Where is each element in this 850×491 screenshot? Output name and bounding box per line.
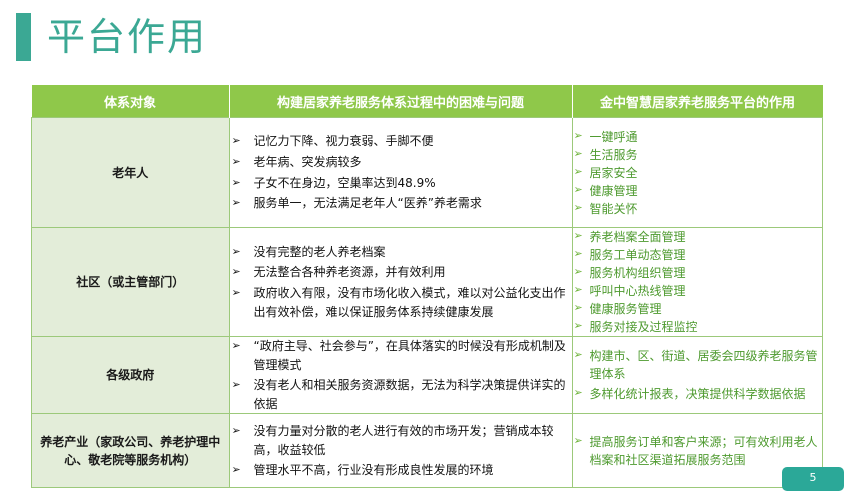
problem-list: 记忆力下降、视力衰弱、手脚不便 老年病、突发病较多 子女不在身边，空巢率达到48… <box>230 132 572 212</box>
list-item: “政府主导、社会参与”，在具体落实的时候没有形成机制及管理模式 <box>230 337 572 374</box>
list-item: 居家安全 <box>573 164 823 182</box>
list-item: 多样化统计报表，决策提供科学数据依据 <box>573 385 823 403</box>
table-row: 社区（或主管部门） 没有完整的老人养老档案 无法整合各种养老资源，并有效利用 政… <box>32 228 823 337</box>
problem-list: “政府主导、社会参与”，在具体落实的时候没有形成机制及管理模式 没有老人和相关服… <box>230 337 572 413</box>
row-problems-cell: “政府主导、社会参与”，在具体落实的时候没有形成机制及管理模式 没有老人和相关服… <box>229 337 572 414</box>
list-item: 子女不在身边，空巢率达到48.9% <box>230 174 572 193</box>
table-header: 体系对象 构建居家养老服务体系过程中的困难与问题 金中智慧居家养老服务平台的作用 <box>32 85 823 118</box>
table-row: 老年人 记忆力下降、视力衰弱、手脚不便 老年病、突发病较多 子女不在身边，空巢率… <box>32 118 823 228</box>
list-item: 服务工单动态管理 <box>573 246 823 264</box>
list-item: 一键呼通 <box>573 128 823 146</box>
list-item: 没有完整的老人养老档案 <box>230 243 572 262</box>
list-item: 服务单一，无法满足老年人“医养”养老需求 <box>230 194 572 213</box>
list-item: 构建市、区、街道、居委会四级养老服务管理体系 <box>573 347 823 383</box>
list-item: 健康服务管理 <box>573 300 823 318</box>
platform-role-table: 体系对象 构建居家养老服务体系过程中的困难与问题 金中智慧居家养老服务平台的作用… <box>31 85 823 488</box>
page-title: 平台作用 <box>47 18 207 56</box>
table-header-row: 体系对象 构建居家养老服务体系过程中的困难与问题 金中智慧居家养老服务平台的作用 <box>32 85 823 118</box>
list-item: 服务对接及过程监控 <box>573 318 823 336</box>
page-number-badge: 5 <box>782 467 844 491</box>
table-row: 各级政府 “政府主导、社会参与”，在具体落实的时候没有形成机制及管理模式 没有老… <box>32 337 823 414</box>
row-object-label: 老年人 <box>32 118 230 228</box>
list-item: 生活服务 <box>573 146 823 164</box>
row-problems-cell: 没有完整的老人养老档案 无法整合各种养老资源，并有效利用 政府收入有限，没有市场… <box>229 228 572 337</box>
list-item: 管理水平不高，行业没有形成良性发展的环境 <box>230 461 572 480</box>
column-header-object: 体系对象 <box>32 85 230 118</box>
role-list: 构建市、区、街道、居委会四级养老服务管理体系 多样化统计报表，决策提供科学数据依… <box>573 347 823 403</box>
row-problems-cell: 记忆力下降、视力衰弱、手脚不便 老年病、突发病较多 子女不在身边，空巢率达到48… <box>229 118 572 228</box>
list-item: 没有力量对分散的老人进行有效的市场开发；营销成本较高，收益较低 <box>230 422 572 459</box>
row-problems-cell: 没有力量对分散的老人进行有效的市场开发；营销成本较高，收益较低 管理水平不高，行… <box>229 414 572 488</box>
role-list: 养老档案全面管理 服务工单动态管理 服务机构组织管理 呼叫中心热线管理 健康服务… <box>573 228 823 336</box>
list-item: 养老档案全面管理 <box>573 228 823 246</box>
column-header-problems: 构建居家养老服务体系过程中的困难与问题 <box>229 85 572 118</box>
table-row: 养老产业（家政公司、养老护理中心、敬老院等服务机构） 没有力量对分散的老人进行有… <box>32 414 823 488</box>
row-object-label: 养老产业（家政公司、养老护理中心、敬老院等服务机构） <box>32 414 230 488</box>
role-list: 一键呼通 生活服务 居家安全 健康管理 智能关怀 <box>573 128 823 218</box>
title-accent-bar <box>16 13 31 61</box>
row-roles-cell: 一键呼通 生活服务 居家安全 健康管理 智能关怀 <box>572 118 823 228</box>
list-item: 呼叫中心热线管理 <box>573 282 823 300</box>
problem-list: 没有力量对分散的老人进行有效的市场开发；营销成本较高，收益较低 管理水平不高，行… <box>230 422 572 480</box>
row-object-label: 社区（或主管部门） <box>32 228 230 337</box>
role-list: 提高服务订单和客户来源；可有效利用老人档案和社区渠道拓展服务范围 <box>573 433 823 469</box>
row-roles-cell: 构建市、区、街道、居委会四级养老服务管理体系 多样化统计报表，决策提供科学数据依… <box>572 337 823 414</box>
list-item: 政府收入有限，没有市场化收入模式，难以对公益化支出作出有效补偿，难以保证服务体系… <box>230 284 572 321</box>
list-item: 记忆力下降、视力衰弱、手脚不便 <box>230 132 572 151</box>
list-item: 健康管理 <box>573 182 823 200</box>
column-header-roles: 金中智慧居家养老服务平台的作用 <box>572 85 823 118</box>
list-item: 提高服务订单和客户来源；可有效利用老人档案和社区渠道拓展服务范围 <box>573 433 823 469</box>
slide-title: 平台作用 <box>16 12 207 62</box>
list-item: 服务机构组织管理 <box>573 264 823 282</box>
list-item: 智能关怀 <box>573 200 823 218</box>
row-roles-cell: 养老档案全面管理 服务工单动态管理 服务机构组织管理 呼叫中心热线管理 健康服务… <box>572 228 823 337</box>
list-item: 老年病、突发病较多 <box>230 153 572 172</box>
problem-list: 没有完整的老人养老档案 无法整合各种养老资源，并有效利用 政府收入有限，没有市场… <box>230 243 572 321</box>
table-body: 老年人 记忆力下降、视力衰弱、手脚不便 老年病、突发病较多 子女不在身边，空巢率… <box>32 118 823 488</box>
row-object-label: 各级政府 <box>32 337 230 414</box>
list-item: 没有老人和相关服务资源数据，无法为科学决策提供详实的依据 <box>230 376 572 413</box>
list-item: 无法整合各种养老资源，并有效利用 <box>230 263 572 282</box>
